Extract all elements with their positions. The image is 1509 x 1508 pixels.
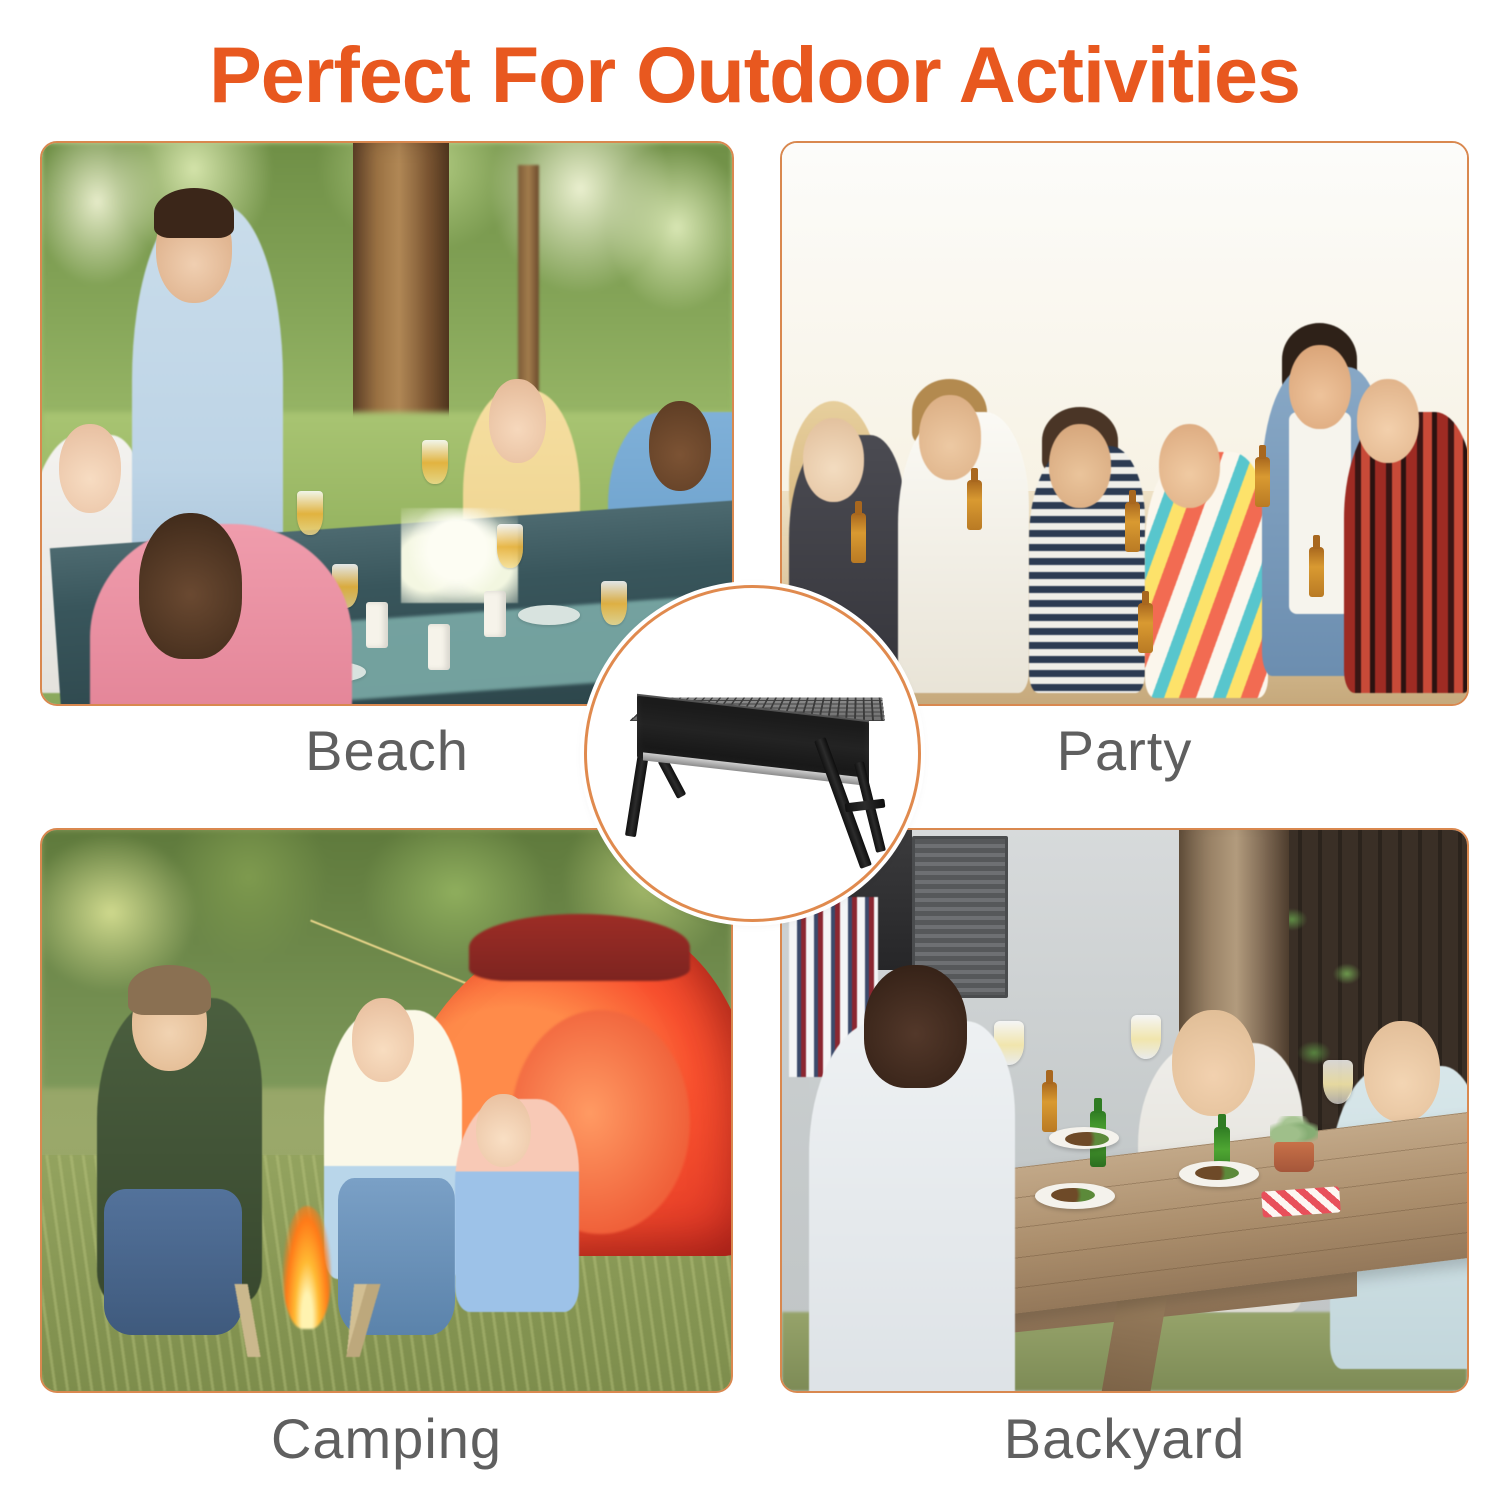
scene-beach-picnic [42, 143, 732, 704]
woman-right-head [489, 379, 546, 463]
woman-left-head [59, 424, 121, 514]
scene-backyard [782, 830, 1467, 1391]
beer-bottle [967, 480, 982, 530]
tile-label-camping: Camping [40, 1406, 733, 1471]
terracotta-pot [1274, 1142, 1314, 1172]
pillar-candle [366, 602, 388, 648]
product-feature-collage: Perfect For Outdoor Activities [0, 0, 1509, 1508]
wine-glass [1323, 1060, 1353, 1104]
scene-beach-party [782, 143, 1467, 704]
beer-bottle [1255, 457, 1270, 507]
woman-right-head [1364, 1021, 1439, 1122]
child-head [476, 1094, 531, 1167]
person2-head [919, 395, 981, 479]
brown-bottle [1042, 1082, 1057, 1132]
pillar-candle [484, 591, 506, 637]
beer-bottle [1125, 502, 1140, 552]
wine-glass [422, 440, 448, 484]
tile-label-backyard: Backyard [780, 1406, 1469, 1471]
man-right-head [649, 401, 711, 491]
wine-glass [297, 491, 323, 535]
bbq-grill-icon [609, 673, 904, 873]
product-badge[interactable] [584, 585, 921, 922]
photo-tile-backyard[interactable] [780, 828, 1469, 1393]
food-plate [1179, 1161, 1259, 1187]
beer-bottle [851, 513, 866, 563]
wine-glass [497, 524, 523, 568]
photo-tile-beach[interactable] [40, 141, 734, 706]
man-hair [128, 965, 211, 1015]
person3-head [1049, 424, 1111, 508]
man-right-head [1172, 1010, 1254, 1117]
man-left-head [864, 965, 967, 1088]
pillar-candle [428, 624, 450, 670]
campfire-flame [283, 1206, 331, 1329]
person1-head [803, 418, 865, 502]
person4-head [1159, 424, 1221, 508]
succulent-plant [1268, 1116, 1320, 1172]
photo-tile-party[interactable] [780, 141, 1469, 706]
photo-tile-camping[interactable] [40, 828, 733, 1393]
beer-bottle [1309, 547, 1324, 597]
wine-glass [1131, 1015, 1161, 1059]
checked-napkin [1261, 1186, 1341, 1217]
person6-head [1357, 379, 1419, 463]
woman-head [352, 998, 414, 1082]
page-title: Perfect For Outdoor Activities [0, 34, 1509, 117]
person5-head [1289, 345, 1351, 429]
standing-man-hair [154, 188, 234, 238]
pine-trunk-secondary [518, 165, 539, 401]
wine-glass [601, 581, 627, 625]
tent-rainfly [469, 914, 689, 981]
foreground-person-head [139, 513, 243, 659]
scene-camping [42, 830, 731, 1391]
beer-bottle [1138, 603, 1153, 653]
